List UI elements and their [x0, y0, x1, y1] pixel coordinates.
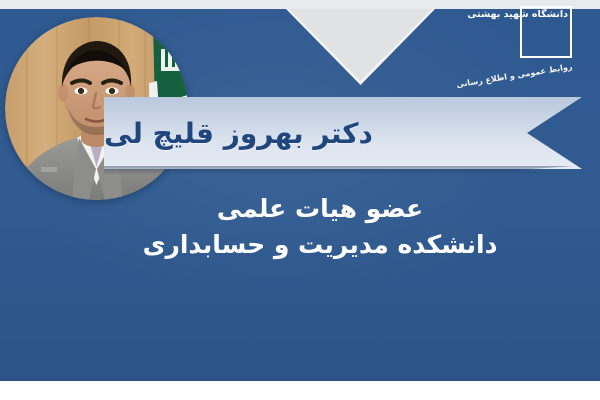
faculty-profile-card: دانشگاه شهید بهشتی روابط عمومی و اطلاع ر…	[0, 0, 600, 400]
subtitle-role: عضو هیات علمی	[100, 192, 540, 226]
bottom-margin	[0, 381, 600, 400]
subtitle-block: عضو هیات علمی دانشکده مدیریت و حسابداری	[100, 192, 540, 261]
university-logo: دانشگاه شهید بهشتی روابط عمومی و اطلاع ر…	[470, 6, 572, 92]
university-logo-mark: دانشگاه شهید بهشتی	[520, 6, 572, 58]
page-title: دکتر بهروز قلیچ لی	[104, 97, 550, 169]
logo-department-label: روابط عمومی و اطلاع رسانی	[455, 62, 572, 89]
subtitle-department: دانشکده مدیریت و حسابداری	[100, 228, 540, 262]
logo-organization-label: دانشگاه شهید بهشتی	[524, 9, 568, 22]
